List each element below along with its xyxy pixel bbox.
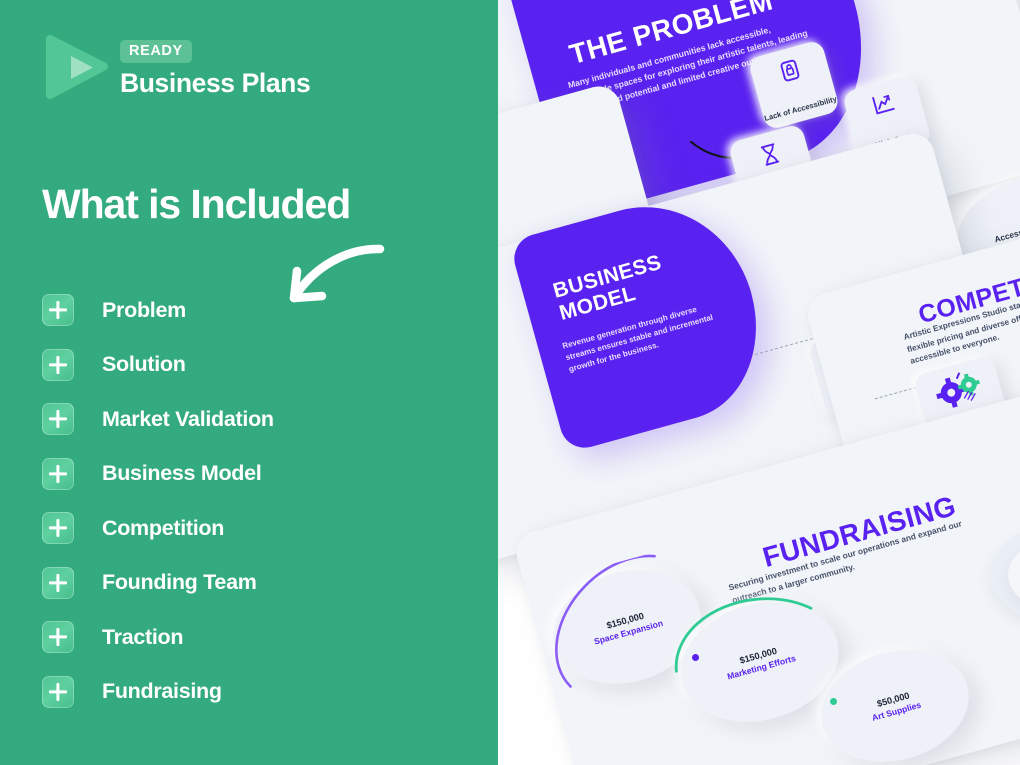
fundraising-ring-label: $50,000 Art Supplies: [820, 675, 971, 737]
plus-icon[interactable]: [42, 512, 74, 544]
status-badge: READY: [120, 40, 192, 63]
play-triangle-icon: [46, 35, 108, 99]
list-item-label: Competition: [102, 516, 224, 541]
list-item-label: Traction: [102, 625, 183, 650]
screenshot-root: THE PROBLEM Many individuals and communi…: [0, 0, 1020, 765]
left-info-panel: READY Business Plans What is Included Pr…: [0, 0, 498, 765]
list-item-label: Solution: [102, 352, 186, 377]
list-item-label: Founding Team: [102, 570, 257, 595]
plus-icon[interactable]: [42, 294, 74, 326]
list-item[interactable]: Competition: [42, 501, 462, 556]
list-item[interactable]: Founding Team: [42, 556, 462, 611]
section-headline: What is Included: [42, 181, 350, 228]
slides-canvas: THE PROBLEM Many individuals and communi…: [498, 0, 1020, 765]
list-item-label: Market Validation: [102, 407, 274, 432]
list-item[interactable]: Solution: [42, 338, 462, 393]
plus-icon[interactable]: [42, 621, 74, 653]
included-items-list: Problem Solution Market Validation Busin…: [42, 283, 462, 719]
lock-document-icon: [776, 56, 804, 85]
list-item[interactable]: Business Model: [42, 447, 462, 502]
brand-text: READY Business Plans: [120, 32, 310, 99]
list-item-label: Business Model: [102, 461, 261, 486]
presentation-preview-panel: THE PROBLEM Many individuals and communi…: [498, 0, 1020, 765]
plus-icon[interactable]: [42, 458, 74, 490]
fundraising-ring-dot-2: [692, 654, 699, 661]
list-item-label: Fundraising: [102, 679, 222, 704]
plus-icon[interactable]: [42, 403, 74, 435]
list-item[interactable]: Problem: [42, 283, 462, 338]
list-item[interactable]: Traction: [42, 610, 462, 665]
list-item[interactable]: Fundraising: [42, 665, 462, 720]
chart-up-icon: [869, 90, 896, 117]
fundraising-ring-dot-3: [830, 698, 837, 705]
plus-icon[interactable]: [42, 567, 74, 599]
page-title: Business Plans: [120, 68, 310, 99]
list-item-label: Problem: [102, 298, 186, 323]
brand-lockup: READY Business Plans: [46, 32, 310, 99]
plus-icon[interactable]: [42, 349, 74, 381]
plus-icon[interactable]: [42, 676, 74, 708]
hourglass-icon: [757, 140, 783, 168]
list-item[interactable]: Market Validation: [42, 392, 462, 447]
